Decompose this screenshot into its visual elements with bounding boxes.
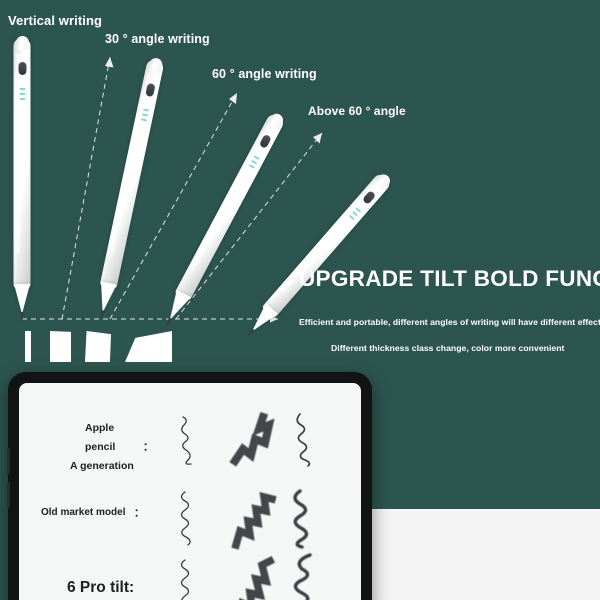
sample-medium-old xyxy=(284,485,338,551)
stylus-led-indicator xyxy=(140,108,148,121)
tablet-screen: Apple pencil A generation ： Old market m… xyxy=(19,383,361,600)
row-colon-apple: ： xyxy=(143,439,154,454)
row-label-old-market-model: Old market model xyxy=(41,507,125,518)
stroke-swatch-bold xyxy=(85,331,111,362)
stylus-cap xyxy=(16,36,29,50)
sample-bold-apple xyxy=(225,409,281,473)
stroke-swatch-thin xyxy=(25,331,31,362)
stylus-button-icon xyxy=(145,83,156,97)
tablet-volume-button-down[interactable] xyxy=(7,482,10,508)
angle-label-above-60: Above 60 ° angle xyxy=(308,104,406,118)
subline-secondary: Different thickness class change, color … xyxy=(331,343,564,353)
sample-thin-apple xyxy=(171,411,221,471)
angle-label-vertical: Vertical writing xyxy=(8,13,102,28)
tablet-volume-button-up[interactable] xyxy=(7,448,10,474)
stylus-vertical xyxy=(14,38,31,288)
sample-thin-old xyxy=(171,487,221,549)
stylus-button-icon xyxy=(18,62,26,75)
stroke-swatch-medium xyxy=(50,331,71,362)
sample-bold-old xyxy=(224,485,282,551)
sample-medium-pro xyxy=(284,551,338,600)
row-label-apple-line-2: pencil xyxy=(85,441,115,453)
stylus-led-indicator xyxy=(19,88,25,100)
angle-label-60: 60 ° angle writing xyxy=(212,67,317,81)
row-label-6-pro-tilt: 6 Pro tilt: xyxy=(67,579,134,597)
stylus-gloss xyxy=(17,53,20,253)
row-label-apple-line-1: Apple xyxy=(85,422,114,434)
tablet-device: Apple pencil A generation ： Old market m… xyxy=(8,372,372,600)
row-colon-old-market: ： xyxy=(134,505,145,520)
subline-primary: Efficient and portable, different angles… xyxy=(299,317,600,327)
stylus-button-icon xyxy=(361,190,376,205)
stylus-body xyxy=(14,38,31,288)
sample-medium-apple xyxy=(286,408,338,470)
sample-bold-pro xyxy=(224,551,282,600)
row-label-apple-line-3: A generation xyxy=(70,460,134,472)
stylus-tip xyxy=(14,284,31,324)
headline: UPGRADE TILT BOLD FUNCTION xyxy=(299,266,600,292)
sample-thin-pro xyxy=(171,555,221,600)
angle-label-30: 30 ° angle writing xyxy=(105,32,210,46)
product-marketing-image: Vertical writing 30 ° angle writing 60 °… xyxy=(0,0,600,600)
